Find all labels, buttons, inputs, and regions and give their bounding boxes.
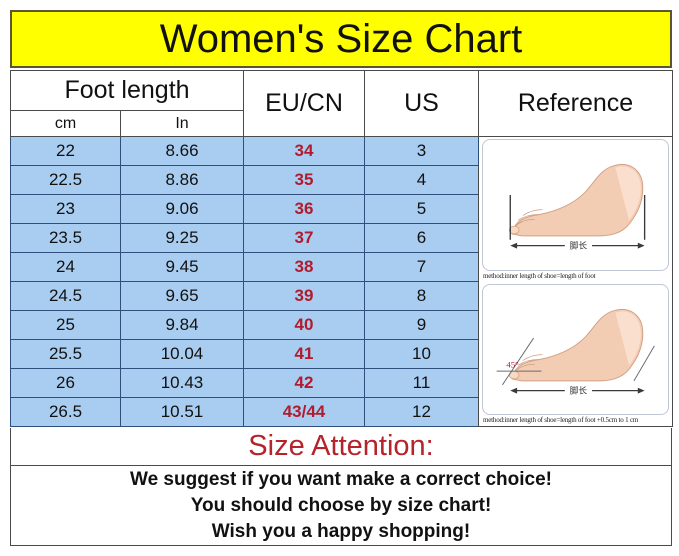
measure-label-2: 脚长 — [570, 384, 588, 395]
size-attention-heading-row: Size Attention: — [10, 428, 672, 466]
header-in: In — [121, 111, 244, 137]
cell-cm: 24.5 — [11, 282, 121, 311]
cell-us: 3 — [365, 137, 479, 166]
header-eu-cn: EU/CN — [244, 71, 365, 137]
attention-line: Wish you a happy shopping! — [212, 519, 470, 545]
cell-eu: 43/44 — [244, 398, 365, 427]
reference-caption-2: method:inner length of shoe=length of fo… — [482, 415, 669, 426]
cell-eu: 40 — [244, 311, 365, 340]
cell-in: 9.45 — [121, 253, 244, 282]
cell-in: 9.25 — [121, 224, 244, 253]
cell-eu: 39 — [244, 282, 365, 311]
cell-in: 8.86 — [121, 166, 244, 195]
chart-title-bar: Women's Size Chart — [10, 10, 672, 68]
cell-us: 8 — [365, 282, 479, 311]
size-attention-body: We suggest if you want make a correct ch… — [10, 466, 672, 546]
cell-eu: 41 — [244, 340, 365, 369]
cell-us: 12 — [365, 398, 479, 427]
cell-cm: 26.5 — [11, 398, 121, 427]
reference-images: 脚长 method:inner length of shoe=length of… — [479, 137, 672, 426]
cell-cm: 23 — [11, 195, 121, 224]
measure-label-1: 脚长 — [570, 240, 588, 251]
cell-in: 10.04 — [121, 340, 244, 369]
cell-in: 10.43 — [121, 369, 244, 398]
cell-in: 10.51 — [121, 398, 244, 427]
cell-us: 9 — [365, 311, 479, 340]
cell-eu: 35 — [244, 166, 365, 195]
reference-block-2: 45° 脚长 method:inner length of s — [479, 282, 672, 427]
cell-cm: 26 — [11, 369, 121, 398]
cell-us: 7 — [365, 253, 479, 282]
cell-cm: 24 — [11, 253, 121, 282]
cell-in: 9.84 — [121, 311, 244, 340]
table-row: 22 8.66 34 3 — [11, 137, 673, 166]
cell-us: 6 — [365, 224, 479, 253]
cell-eu: 38 — [244, 253, 365, 282]
cell-eu: 36 — [244, 195, 365, 224]
cell-cm: 22 — [11, 137, 121, 166]
cell-cm: 23.5 — [11, 224, 121, 253]
cell-cm: 22.5 — [11, 166, 121, 195]
cell-eu: 37 — [244, 224, 365, 253]
cell-us: 4 — [365, 166, 479, 195]
foot-illustration-2: 45° 脚长 — [482, 284, 669, 416]
angle-label: 45° — [506, 359, 519, 369]
cell-eu: 42 — [244, 369, 365, 398]
bare-foot-side-view-icon: 脚长 — [483, 140, 668, 270]
reference-caption-1: method:inner length of shoe=length of fo… — [482, 271, 669, 282]
header-foot-length: Foot length — [11, 71, 244, 111]
size-chart-root: Women's Size Chart Foot length EU/CN US … — [0, 0, 679, 556]
cell-eu: 34 — [244, 137, 365, 166]
cell-cm: 25.5 — [11, 340, 121, 369]
bare-foot-angle-icon: 45° 脚长 — [483, 285, 668, 415]
attention-line: We suggest if you want make a correct ch… — [130, 467, 552, 493]
attention-line: You should choose by size chart! — [191, 493, 492, 519]
cell-in: 9.06 — [121, 195, 244, 224]
reference-cell: 脚长 method:inner length of shoe=length of… — [479, 137, 673, 427]
header-us: US — [365, 71, 479, 137]
foot-illustration-1: 脚长 — [482, 139, 669, 271]
size-table: Foot length EU/CN US Reference cm In 22 … — [10, 70, 673, 427]
cell-in: 9.65 — [121, 282, 244, 311]
size-attention-heading: Size Attention: — [248, 430, 433, 463]
table-header-row-main: Foot length EU/CN US Reference — [11, 71, 673, 111]
reference-block-1: 脚长 method:inner length of shoe=length of… — [479, 137, 672, 282]
cell-us: 11 — [365, 369, 479, 398]
header-reference: Reference — [479, 71, 673, 137]
header-cm: cm — [11, 111, 121, 137]
cell-cm: 25 — [11, 311, 121, 340]
page-title: Women's Size Chart — [160, 19, 523, 59]
cell-us: 10 — [365, 340, 479, 369]
cell-in: 8.66 — [121, 137, 244, 166]
cell-us: 5 — [365, 195, 479, 224]
